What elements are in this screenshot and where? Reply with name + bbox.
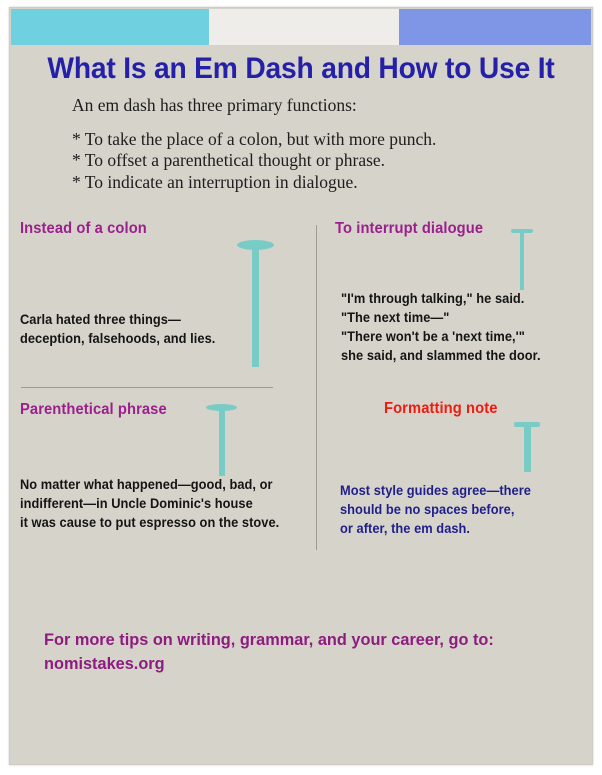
example-text-instead-of-colon: Carla hated three things— deception, fal… — [20, 310, 215, 348]
example-line: deception, falsehoods, and lies. — [20, 329, 215, 348]
footer-site-url[interactable]: nomistakes.org — [44, 652, 562, 676]
example-text-interrupt-dialogue: "I'm through talking," he said. "The nex… — [341, 289, 541, 366]
infographic-poster: What Is an Em Dash and How to Use It An … — [0, 0, 602, 775]
section-heading-formatting-note: Formatting note — [384, 400, 497, 418]
intro-bullet: * To indicate an interruption in dialogu… — [72, 172, 572, 193]
section-interrupt-dialogue: To interrupt dialogue "I'm through talki… — [316, 215, 591, 387]
pin-mark-formatting-note — [514, 422, 540, 472]
example-text-formatting-note: Most style guides agree—there should be … — [340, 481, 531, 538]
example-line: it was cause to put espresso on the stov… — [20, 513, 279, 532]
footer-cta: For more tips on writing, grammar, and y… — [44, 628, 562, 676]
example-line: she said, and slammed the door. — [341, 346, 541, 365]
page-title: What Is an Em Dash and How to Use It — [18, 52, 584, 86]
white-band — [209, 9, 399, 45]
top-color-bands — [11, 9, 591, 45]
example-line: Carla hated three things— — [20, 310, 215, 329]
pin-stem-icon — [520, 232, 524, 290]
pin-stem-icon — [524, 426, 531, 472]
section-formatting-note: Formatting note Most style guides agree—… — [316, 387, 591, 560]
pin-mark-interrupt-dialogue — [511, 229, 533, 290]
blue-band — [399, 9, 591, 45]
example-line: "I'm through talking," he said. — [341, 289, 541, 308]
example-line: "The next time—" — [341, 308, 541, 327]
intro-block: An em dash has three primary functions: … — [72, 95, 572, 194]
example-line: "There won't be a 'next time,'" — [341, 327, 541, 346]
example-line: should be no spaces before, — [340, 500, 531, 519]
sections-grid: Instead of a colon Carla hated three thi… — [11, 215, 591, 560]
intro-bullet: * To offset a parenthetical thought or p… — [72, 150, 572, 171]
pin-stem-icon — [219, 410, 225, 476]
pin-stem-icon — [252, 248, 259, 367]
footer-line-1: For more tips on writing, grammar, and y… — [44, 628, 562, 652]
pin-mark-parenthetical-phrase — [206, 404, 237, 476]
section-heading-interrupt-dialogue: To interrupt dialogue — [335, 220, 483, 238]
example-line: No matter what happened—good, bad, or — [20, 475, 279, 494]
section-parenthetical-phrase: Parenthetical phrase No matter what happ… — [11, 387, 316, 560]
intro-lead: An em dash has three primary functions: — [72, 95, 572, 116]
example-line: indifferent—in Uncle Dominic's house — [20, 494, 279, 513]
section-heading-parenthetical-phrase: Parenthetical phrase — [20, 401, 167, 419]
example-text-parenthetical-phrase: No matter what happened—good, bad, or in… — [20, 475, 279, 532]
pin-mark-instead-of-colon — [237, 240, 274, 367]
example-line: or after, the em dash. — [340, 519, 531, 538]
intro-bullet: * To take the place of a colon, but with… — [72, 129, 572, 150]
section-heading-instead-of-colon: Instead of a colon — [20, 220, 147, 238]
example-line: Most style guides agree—there — [340, 481, 531, 500]
section-instead-of-colon: Instead of a colon Carla hated three thi… — [11, 215, 316, 387]
intro-bullet-list: * To take the place of a colon, but with… — [72, 129, 572, 193]
cyan-band — [11, 9, 209, 45]
